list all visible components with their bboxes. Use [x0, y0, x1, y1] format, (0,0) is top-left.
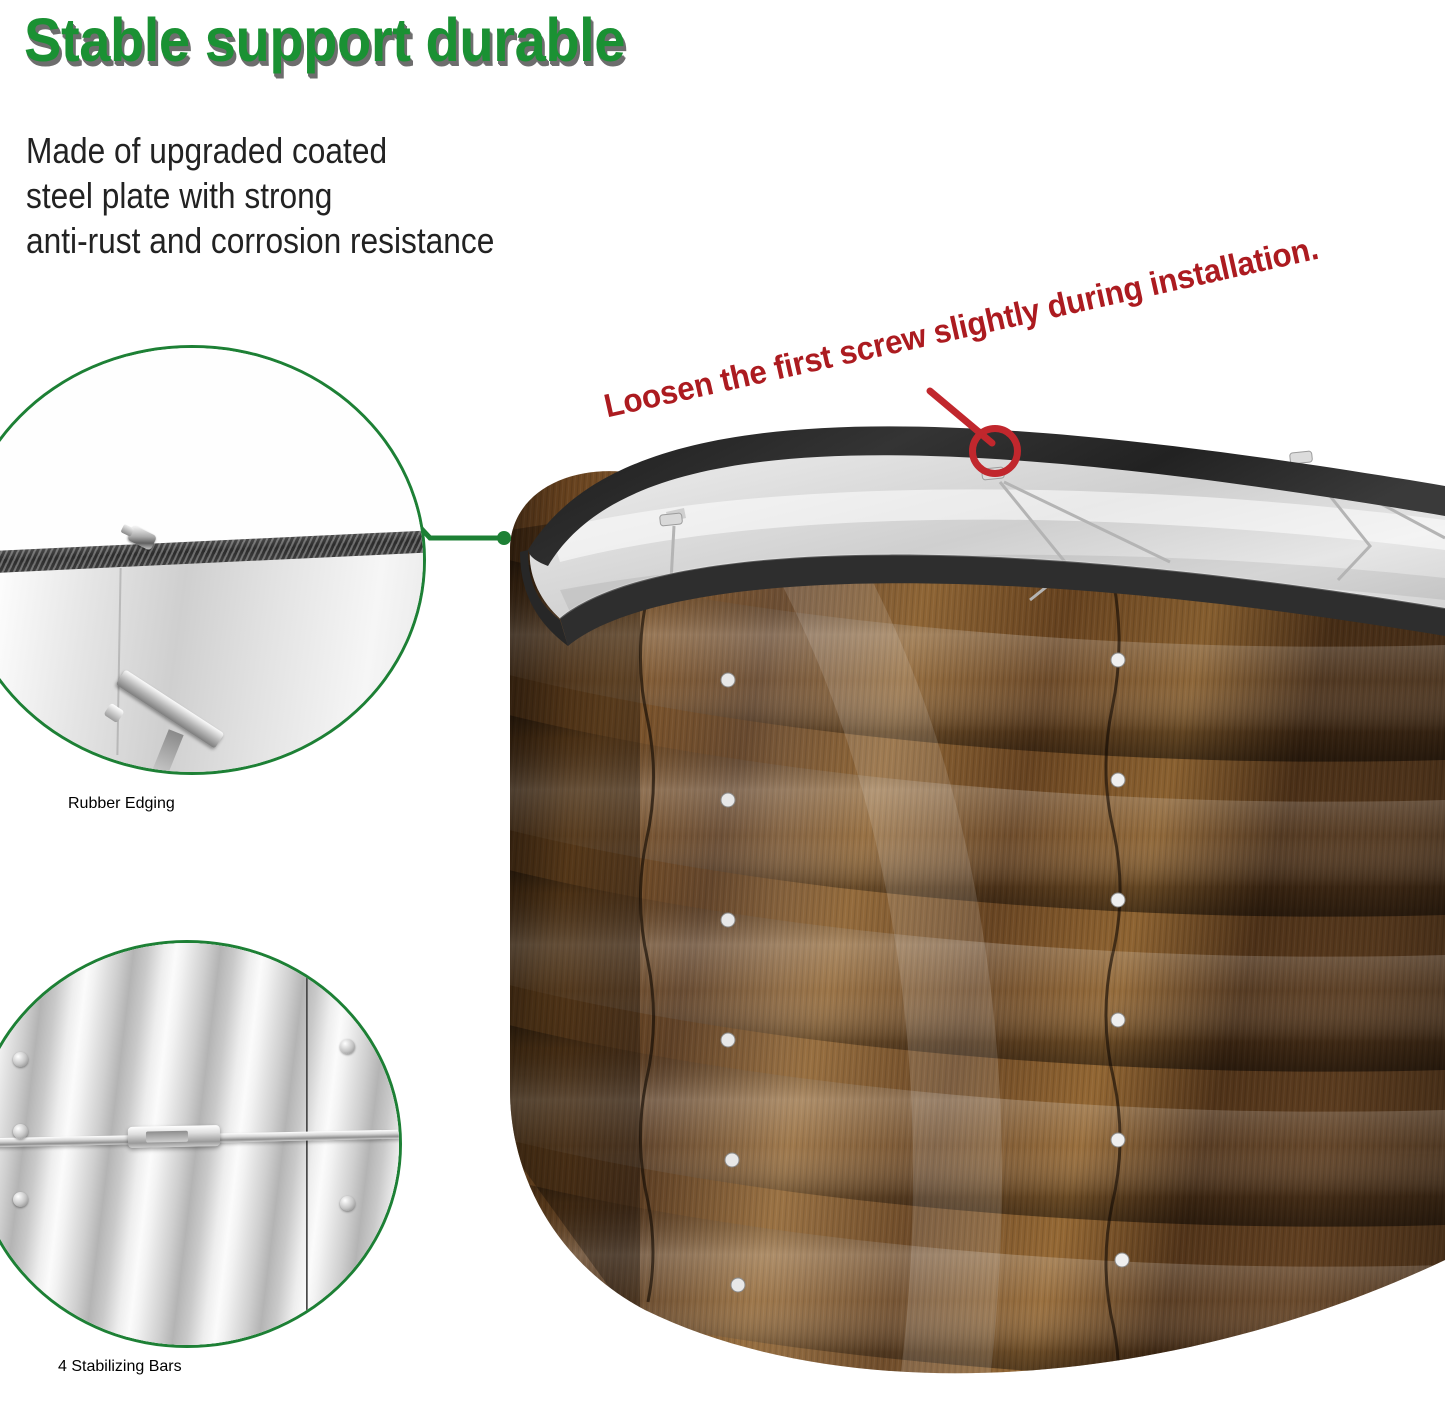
- callout-label-stabilizing-bars: 4 Stabilizing Bars: [58, 1358, 438, 1376]
- turnbuckle-connector: [127, 1125, 219, 1148]
- subtitle-line-1: Made of upgraded coated: [26, 128, 748, 173]
- subtitle-line-3: anti-rust and corrosion resistance: [26, 218, 748, 263]
- page-subtitle: Made of upgraded coated steel plate with…: [26, 128, 846, 263]
- stabilizing-bars-detail-photo: [0, 943, 399, 1345]
- warning-highlight-ring: [969, 425, 1021, 477]
- detail-screw-icon: [340, 1196, 355, 1211]
- page-title-text: Stable support durable: [24, 6, 852, 74]
- page-title: Stable support durable: [24, 6, 924, 78]
- callout-circle-stabilizing-bars: [0, 940, 402, 1348]
- rubber-edging-detail-photo: [0, 348, 423, 772]
- detail-screw-icon: [13, 1124, 28, 1139]
- callout-label-rubber-edging: Rubber Edging: [68, 795, 448, 813]
- raised-garden-bed-illustration: [470, 300, 1445, 1406]
- subtitle-line-2: steel plate with strong: [26, 173, 748, 218]
- callout-rubber-edging: [0, 345, 426, 775]
- callout-stabilizing-bars: [0, 940, 402, 1348]
- callout-circle-rubber-edging: [0, 345, 426, 775]
- product-image: [470, 300, 1445, 1406]
- detail-screw-icon: [13, 1052, 28, 1067]
